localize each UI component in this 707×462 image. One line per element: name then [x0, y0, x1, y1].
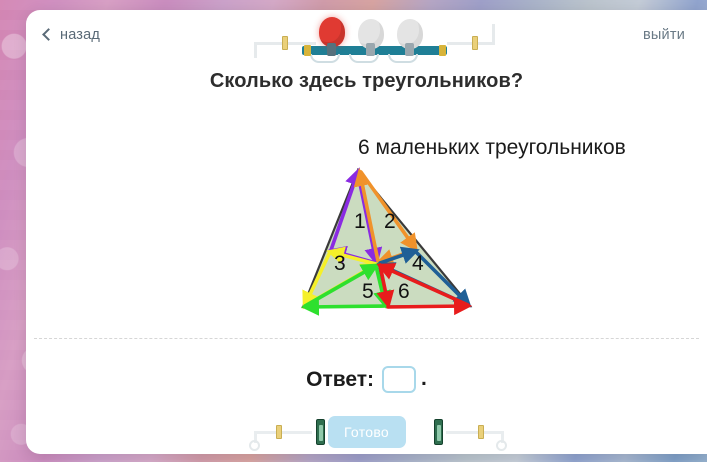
- back-button-label: назад: [60, 27, 100, 43]
- exit-button[interactable]: выйти: [643, 27, 685, 43]
- region-label-3: 3: [334, 252, 346, 275]
- battery-icon: [316, 419, 325, 445]
- fuse-icon: [478, 425, 484, 439]
- fuse-icon: [276, 425, 282, 439]
- battery-icon: [434, 419, 443, 445]
- bulb-neck: [366, 43, 375, 56]
- bus-loop: [388, 54, 418, 63]
- back-button[interactable]: назад: [44, 27, 100, 43]
- chevron-left-icon: [42, 28, 55, 41]
- region-label-5: 5: [362, 280, 374, 303]
- bus-node: [304, 45, 311, 56]
- wire-segment: [492, 24, 495, 45]
- bulb-neck: [405, 43, 414, 56]
- exit-button-label: выйти: [643, 27, 685, 43]
- answer-period: .: [421, 367, 427, 393]
- fuse-icon: [472, 36, 478, 50]
- page-title: Сколько здесь треугольников?: [26, 70, 707, 93]
- section-divider: [34, 338, 699, 339]
- answer-label: Ответ:: [306, 368, 374, 392]
- bus-loop: [310, 54, 340, 63]
- wire-segment: [254, 431, 312, 434]
- outer-triangle: [303, 170, 470, 307]
- wire-segment: [446, 431, 504, 434]
- answer-row: Ответ: .: [26, 366, 707, 393]
- terminal-icon: [249, 440, 260, 451]
- terminal-icon: [496, 440, 507, 451]
- answer-input[interactable]: [382, 366, 416, 393]
- bus-node: [439, 45, 446, 56]
- region-label-1: 1: [354, 210, 366, 233]
- region-label-6: 6: [398, 280, 410, 303]
- region-label-2: 2: [384, 210, 396, 233]
- fuse-icon: [282, 36, 288, 50]
- wire-segment: [447, 42, 495, 45]
- top-bar: назад выйти: [26, 10, 707, 62]
- submit-area: Готово: [26, 410, 707, 454]
- bus-loop: [349, 54, 379, 63]
- progress-indicator: [254, 16, 494, 60]
- bulb-neck: [327, 43, 336, 56]
- submit-button[interactable]: Готово: [328, 416, 406, 448]
- region-label-4: 4: [412, 252, 424, 275]
- lesson-card: назад выйти: [26, 10, 707, 454]
- triangle-figure: 1 2 3 4 5 6: [266, 150, 496, 330]
